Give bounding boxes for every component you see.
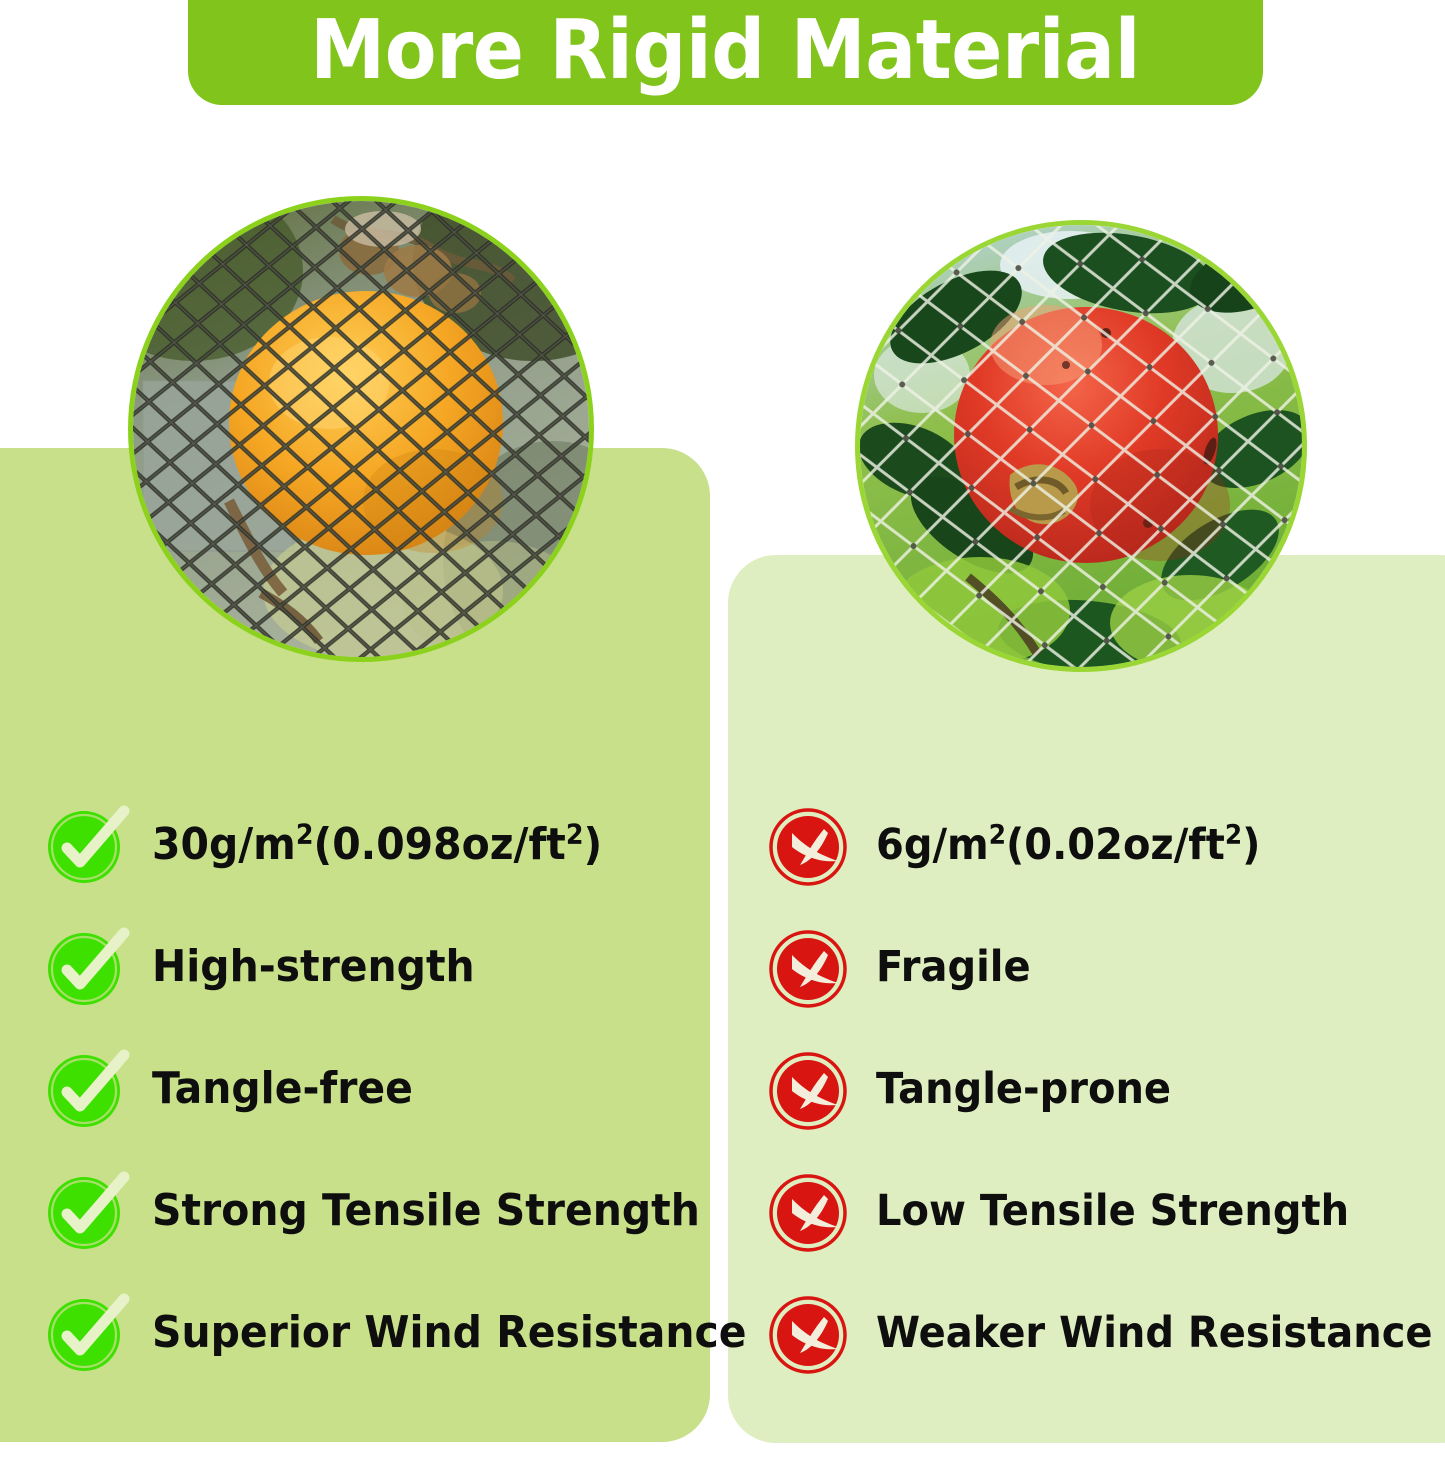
feature-row: Strong Tensile Strength (44, 1150, 704, 1272)
feature-list-bad: 6g/m2(0.02oz/ft2) Fragile (768, 784, 1428, 1394)
check-circle-icon (44, 803, 128, 887)
x-circle-icon (768, 925, 852, 1009)
product-photo-thin-netting (855, 220, 1307, 672)
photo-right-graphic (860, 225, 1302, 667)
feature-row: Fragile (768, 906, 1428, 1028)
feature-row: 6g/m2(0.02oz/ft2) (768, 784, 1428, 906)
product-photo-heavy-netting (128, 196, 594, 662)
feature-label: 6g/m2(0.02oz/ft2) (876, 819, 1260, 871)
feature-label: 30g/m2(0.098oz/ft2) (152, 819, 602, 871)
feature-label: High-strength (152, 941, 475, 993)
feature-label: Fragile (876, 941, 1031, 993)
feature-label: Weaker Wind Resistance (876, 1307, 1433, 1359)
x-circle-icon (768, 803, 852, 887)
feature-label: Tangle-free (152, 1063, 413, 1115)
feature-row: Tangle-free (44, 1028, 704, 1150)
feature-row: 30g/m2(0.098oz/ft2) (44, 784, 704, 906)
feature-label: Tangle-prone (876, 1063, 1171, 1115)
feature-list-good: 30g/m2(0.098oz/ft2) High-strength (44, 784, 704, 1394)
feature-label: Strong Tensile Strength (152, 1185, 700, 1237)
check-circle-icon (44, 1291, 128, 1375)
x-circle-icon (768, 1169, 852, 1253)
photo-left-graphic (133, 201, 589, 657)
feature-label: Superior Wind Resistance (152, 1307, 747, 1359)
x-circle-icon (768, 1291, 852, 1375)
infographic-root: More Rigid Material (0, 0, 1445, 1458)
header-banner: More Rigid Material (188, 0, 1263, 105)
feature-label: Low Tensile Strength (876, 1185, 1349, 1237)
check-circle-icon (44, 925, 128, 1009)
check-circle-icon (44, 1047, 128, 1131)
page-title: More Rigid Material (311, 3, 1141, 105)
feature-row: High-strength (44, 906, 704, 1028)
feature-row: Superior Wind Resistance (44, 1272, 704, 1394)
check-circle-icon (44, 1169, 128, 1253)
x-circle-icon (768, 1047, 852, 1131)
feature-row: Weaker Wind Resistance (768, 1272, 1428, 1394)
feature-row: Low Tensile Strength (768, 1150, 1428, 1272)
feature-row: Tangle-prone (768, 1028, 1428, 1150)
